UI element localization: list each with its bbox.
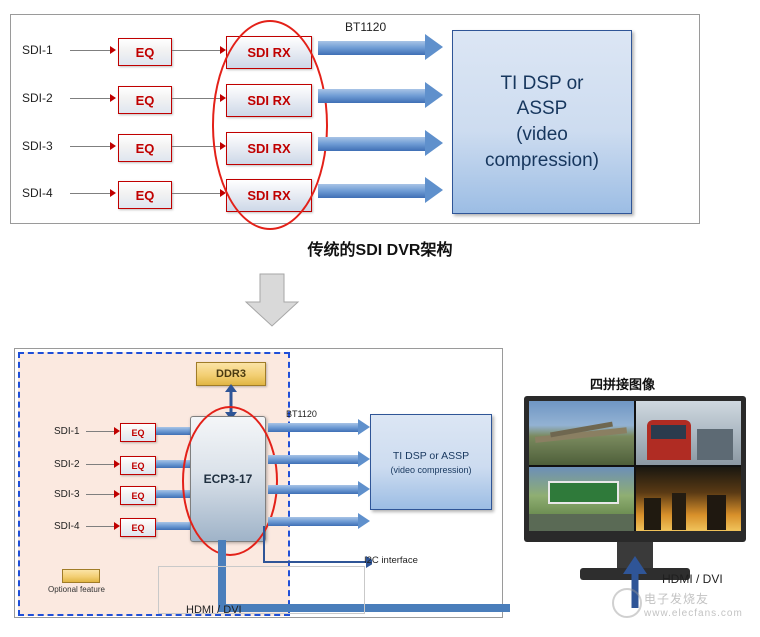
ti-dsp-line-4: compression) [485,148,599,174]
monitor-screen [529,401,741,531]
bottom-dsp-title: TI DSP or ASSP [393,450,469,462]
bt1120-arrow-1 [318,41,426,55]
eq-block-3: EQ [118,134,172,162]
bottom-connector-2 [86,464,116,465]
optional-feature-swatch [62,569,100,583]
watermark-text: 电子发烧友 [644,590,709,607]
ti-dsp-block: TI DSP or ASSP (video compression) [452,30,632,214]
eq-block-1: EQ [118,38,172,66]
sdi-rx-group-highlight-ellipse [212,20,328,230]
bottom-connector-1 [86,431,116,432]
ti-dsp-line-2: ASSP [485,96,599,122]
connector-eq-sdirx-1 [172,50,222,51]
bottom-bus-label: BT1120 [286,409,317,419]
bottom-connector-4 [86,526,116,527]
bottom-bt1120-arrow-2 [268,455,360,464]
bt1120-arrow-2 [318,89,426,103]
eq-block-2: EQ [118,86,172,114]
bottom-eq-block-3: EQ [120,486,156,505]
connector-arrowhead-1 [110,46,116,54]
bottom-eq-block-2: EQ [120,456,156,475]
internal-routing-outline [158,566,365,614]
bottom-dsp-subtitle: (video compression) [390,465,471,475]
ti-dsp-line-3: (video [485,122,599,148]
monitor-tile-4 [636,467,741,531]
hdmi-dvi-label-monitor: HDMI / DVI [662,572,723,586]
bottom-bt1120-arrowhead-1 [358,419,370,435]
bottom-eq-block-1: EQ [120,423,156,442]
monitor-tile-3 [529,467,634,531]
bt1120-arrowhead-1 [425,34,443,60]
bottom-bt1120-arrow-3 [268,485,360,494]
connector-input-eq-1 [70,50,112,51]
bottom-input-label-3: SDI-3 [54,489,80,500]
connector-arrowhead-3 [110,142,116,150]
top-input-label-2: SDI-2 [22,91,53,105]
legacy-architecture-caption: 传统的SDI DVR架构 [0,236,760,260]
connector-eq-sdirx-4 [172,193,222,194]
optional-feature-label: Optional feature [48,585,105,594]
ti-dsp-line-1: TI DSP or [485,71,599,97]
top-input-label-4: SDI-4 [22,186,53,200]
i2c-interface-label: I2C interface [364,555,418,566]
bottom-bt1120-arrow-1 [268,423,360,432]
bt1120-arrow-3 [318,137,426,151]
top-bus-label: BT1120 [345,20,386,34]
i2c-connector [262,520,372,568]
connector-input-eq-3 [70,146,112,147]
bt1120-arrowhead-3 [425,130,443,156]
bt1120-arrowhead-2 [425,82,443,108]
watermark-logo-icon [612,588,642,618]
ddr3-block: DDR3 [196,362,266,386]
monitor-title: 四拼接图像 [590,374,655,393]
bottom-eq-to-chip-4 [156,522,190,530]
bottom-bt1120-arrowhead-2 [358,451,370,467]
bottom-eq-to-chip-1 [156,427,190,435]
monitor-tile-2 [636,401,741,465]
bottom-input-label-2: SDI-2 [54,459,80,470]
bt1120-arrow-4 [318,184,426,198]
bottom-ti-dsp-block: TI DSP or ASSP (video compression) [370,414,492,510]
bt1120-arrowhead-4 [425,177,443,203]
bottom-bt1120-arrowhead-3 [358,481,370,497]
connector-arrowhead-2 [110,94,116,102]
eq-block-4: EQ [118,181,172,209]
bottom-input-label-4: SDI-4 [54,521,80,532]
bottom-connector-3 [86,494,116,495]
bottom-eq-block-4: EQ [120,518,156,537]
watermark-url: www.elecfans.com [644,608,743,619]
monitor-tile-1 [529,401,634,465]
connector-input-eq-4 [70,193,112,194]
connector-input-eq-2 [70,98,112,99]
top-input-label-3: SDI-3 [22,139,53,153]
connector-arrowhead-4 [110,189,116,197]
top-input-label-1: SDI-1 [22,43,53,57]
transition-down-arrow [243,272,301,330]
bottom-input-label-1: SDI-1 [54,426,80,437]
